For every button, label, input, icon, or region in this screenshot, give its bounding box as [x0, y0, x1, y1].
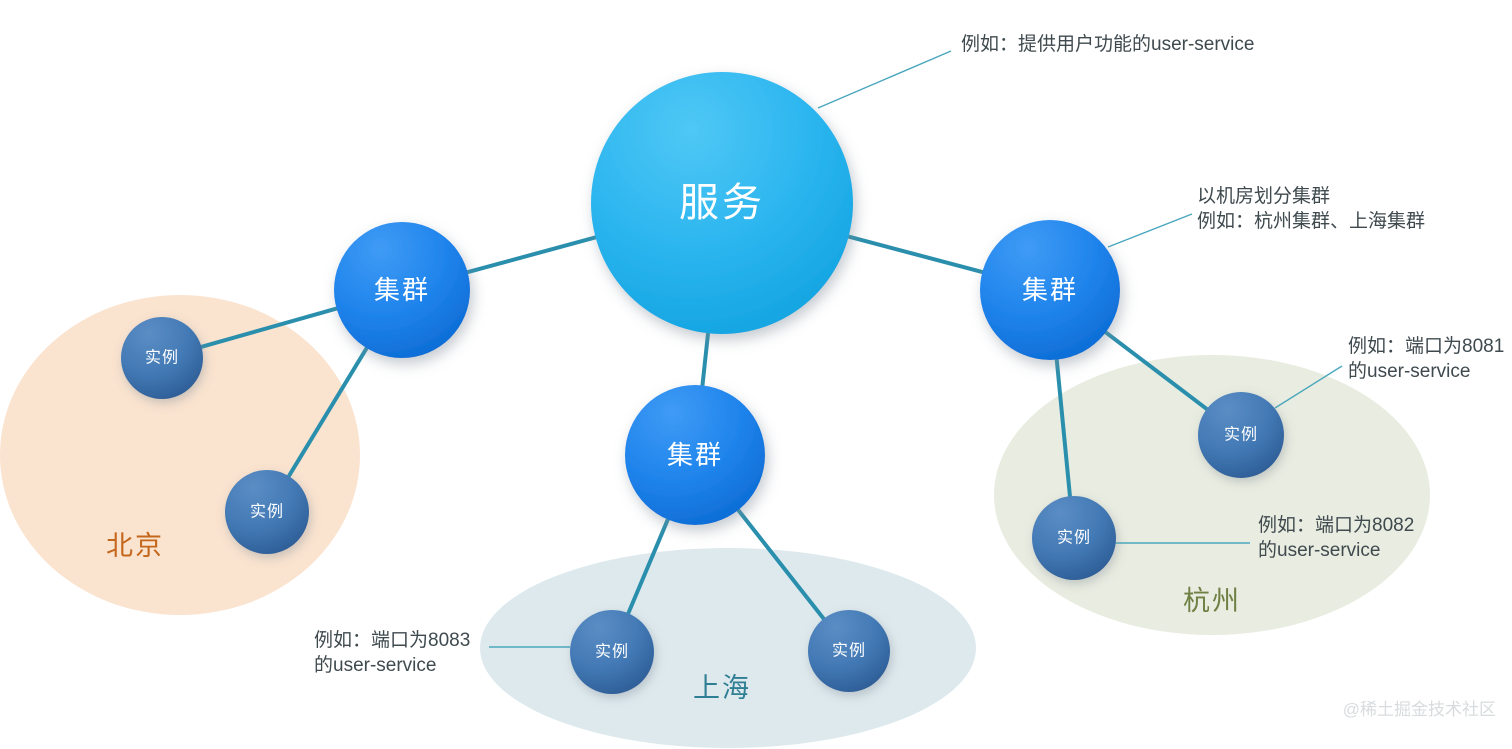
instance-label: 实例	[595, 643, 629, 661]
diagram-canvas: 实例 实例 实例 实例 实例 实例	[0, 0, 1512, 749]
architecture-diagram: 实例 实例 实例 实例 实例 实例	[0, 0, 1512, 749]
cluster-label: 集群	[1022, 275, 1078, 305]
annotation-line: 的user-service	[1348, 360, 1470, 382]
annotation-line: 例如：杭州集群、上海集群	[1197, 210, 1425, 232]
instance-label: 实例	[145, 349, 179, 367]
region-ellipse-shanghai	[480, 548, 976, 748]
node-instance-hangzhou-1[interactable]: 实例	[1198, 392, 1284, 478]
annotation-service: 例如：提供用户功能的user-service	[961, 33, 1254, 55]
instance-label: 实例	[832, 642, 866, 660]
region-label-hangzhou: 杭州	[1183, 586, 1241, 616]
edge-service-to-cluster-shanghai	[702, 329, 708, 389]
cluster-label: 集群	[667, 440, 723, 470]
node-instance-beijing-2[interactable]: 实例	[225, 470, 309, 554]
edge-service-to-cluster-beijing	[464, 236, 600, 273]
annotation-line: 例如：端口为8082	[1258, 514, 1414, 536]
annotation-line: 以机房划分集群	[1197, 185, 1330, 207]
annotation-line: 例如：端口为8083	[314, 629, 470, 651]
node-service[interactable]: 服务	[591, 72, 853, 334]
node-cluster-shanghai[interactable]: 集群	[625, 385, 765, 525]
instance-label: 实例	[1224, 426, 1258, 444]
instance-label: 实例	[250, 503, 284, 521]
instance-label: 实例	[1057, 529, 1091, 547]
service-label: 服务	[679, 181, 765, 225]
annotation-cluster: 以机房划分集群例如：杭州集群、上海集群	[1197, 185, 1425, 232]
leader-line-service-annotation	[818, 51, 951, 108]
region-label-shanghai: 上海	[693, 673, 751, 703]
node-instance-beijing-1[interactable]: 实例	[121, 317, 203, 399]
annotation-line: 的user-service	[314, 654, 436, 676]
annotation-line: 的user-service	[1258, 539, 1380, 561]
node-instance-shanghai-2[interactable]: 实例	[808, 610, 890, 692]
node-cluster-hangzhou[interactable]: 集群	[980, 220, 1120, 360]
edge-service-to-cluster-hangzhou	[845, 236, 986, 274]
annotation-line: 例如：提供用户功能的user-service	[961, 33, 1254, 55]
annotation-line: 例如：端口为8081	[1348, 335, 1504, 357]
annotation-instance-8083: 例如：端口为8083的user-service	[314, 629, 470, 676]
annotation-instance-8081: 例如：端口为8081的user-service	[1348, 335, 1504, 382]
watermark: @稀土掘金技术社区	[1343, 700, 1496, 719]
leader-line-cluster-annotation	[1108, 214, 1192, 247]
region-label-beijing: 北京	[106, 531, 164, 561]
node-instance-shanghai-1[interactable]: 实例	[570, 610, 654, 694]
node-instance-hangzhou-2[interactable]: 实例	[1032, 496, 1116, 580]
node-cluster-beijing[interactable]: 集群	[334, 222, 470, 358]
cluster-label: 集群	[374, 275, 430, 305]
